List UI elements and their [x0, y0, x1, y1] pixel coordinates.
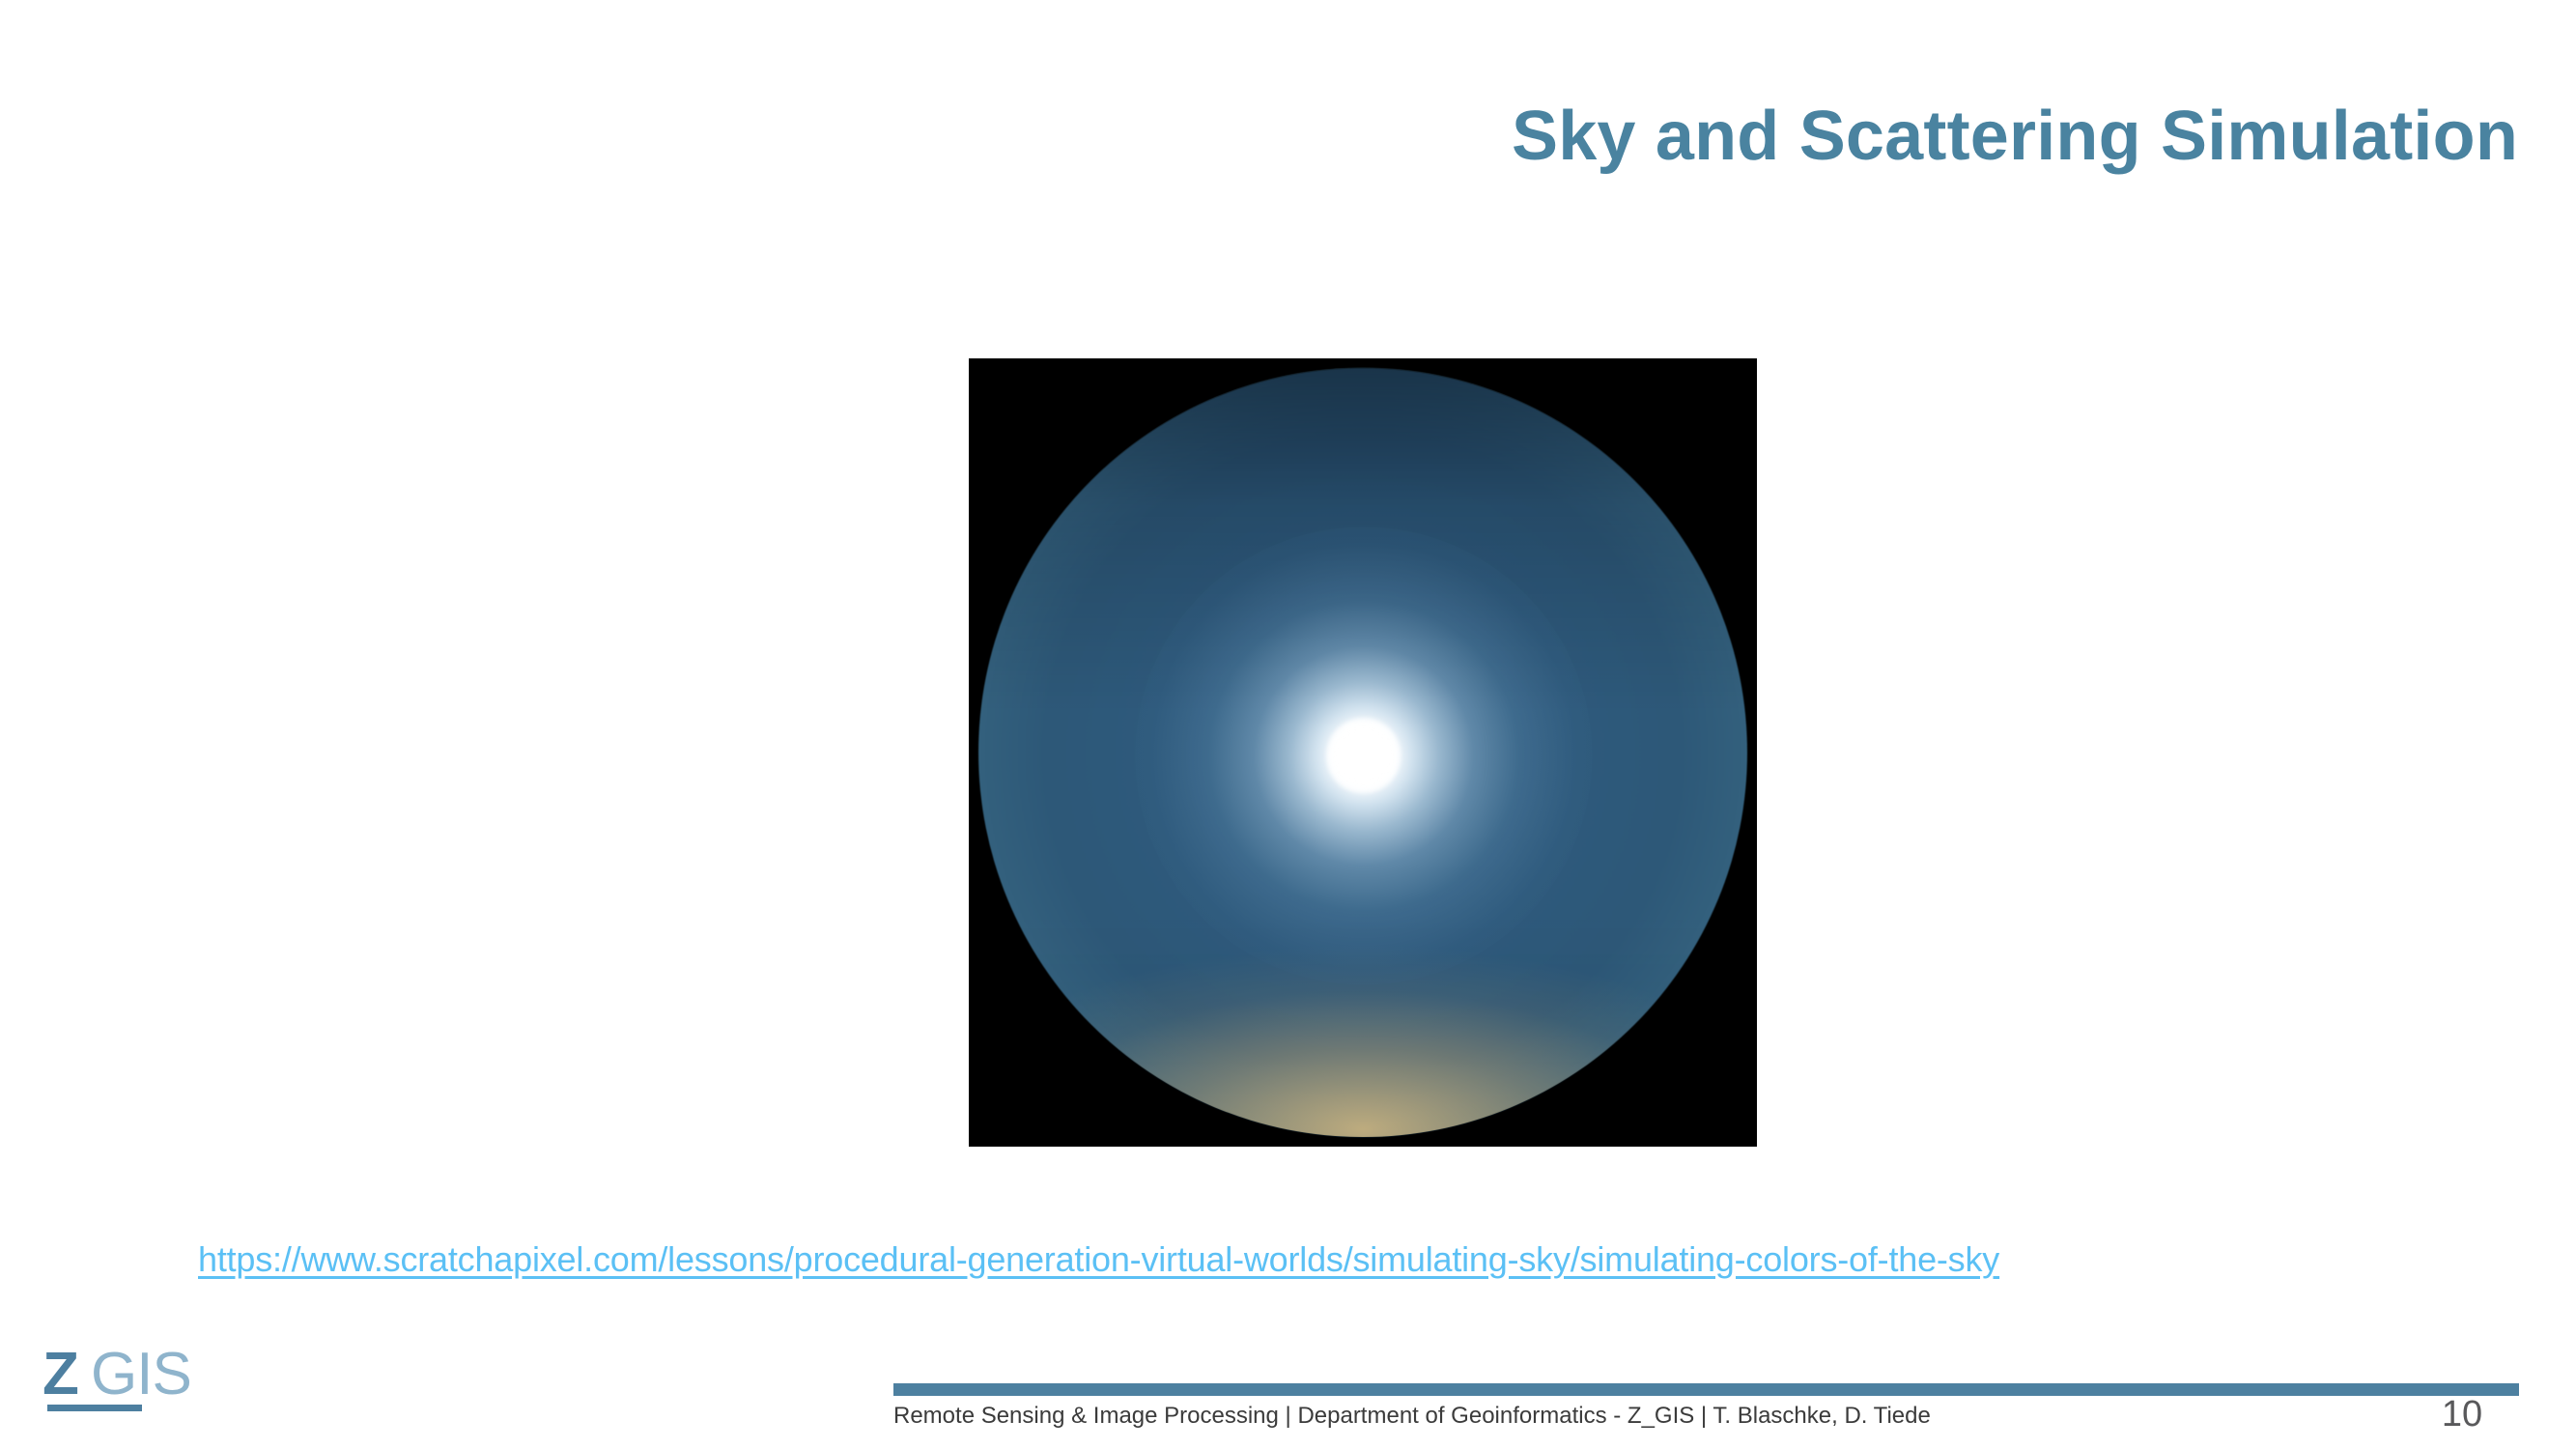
sky-scattering-render-image: [969, 358, 1757, 1147]
zgis-logo-name: GIS: [91, 1345, 191, 1405]
zgis-logo-mark: Z: [42, 1345, 79, 1405]
page-number: 10: [2404, 1394, 2520, 1435]
zgis-logo: Z GIS: [42, 1345, 265, 1422]
page-title: Sky and Scattering Simulation: [973, 100, 2518, 174]
source-url-link[interactable]: https://www.scratchapixel.com/lessons/pr…: [198, 1239, 1999, 1280]
sun-core-icon: [1326, 718, 1401, 793]
slide: Sky and Scattering Simulation https://ww…: [0, 0, 2576, 1449]
footer-divider-bar: [893, 1383, 2519, 1396]
footer-text: Remote Sensing & Image Processing | Depa…: [893, 1403, 1931, 1430]
